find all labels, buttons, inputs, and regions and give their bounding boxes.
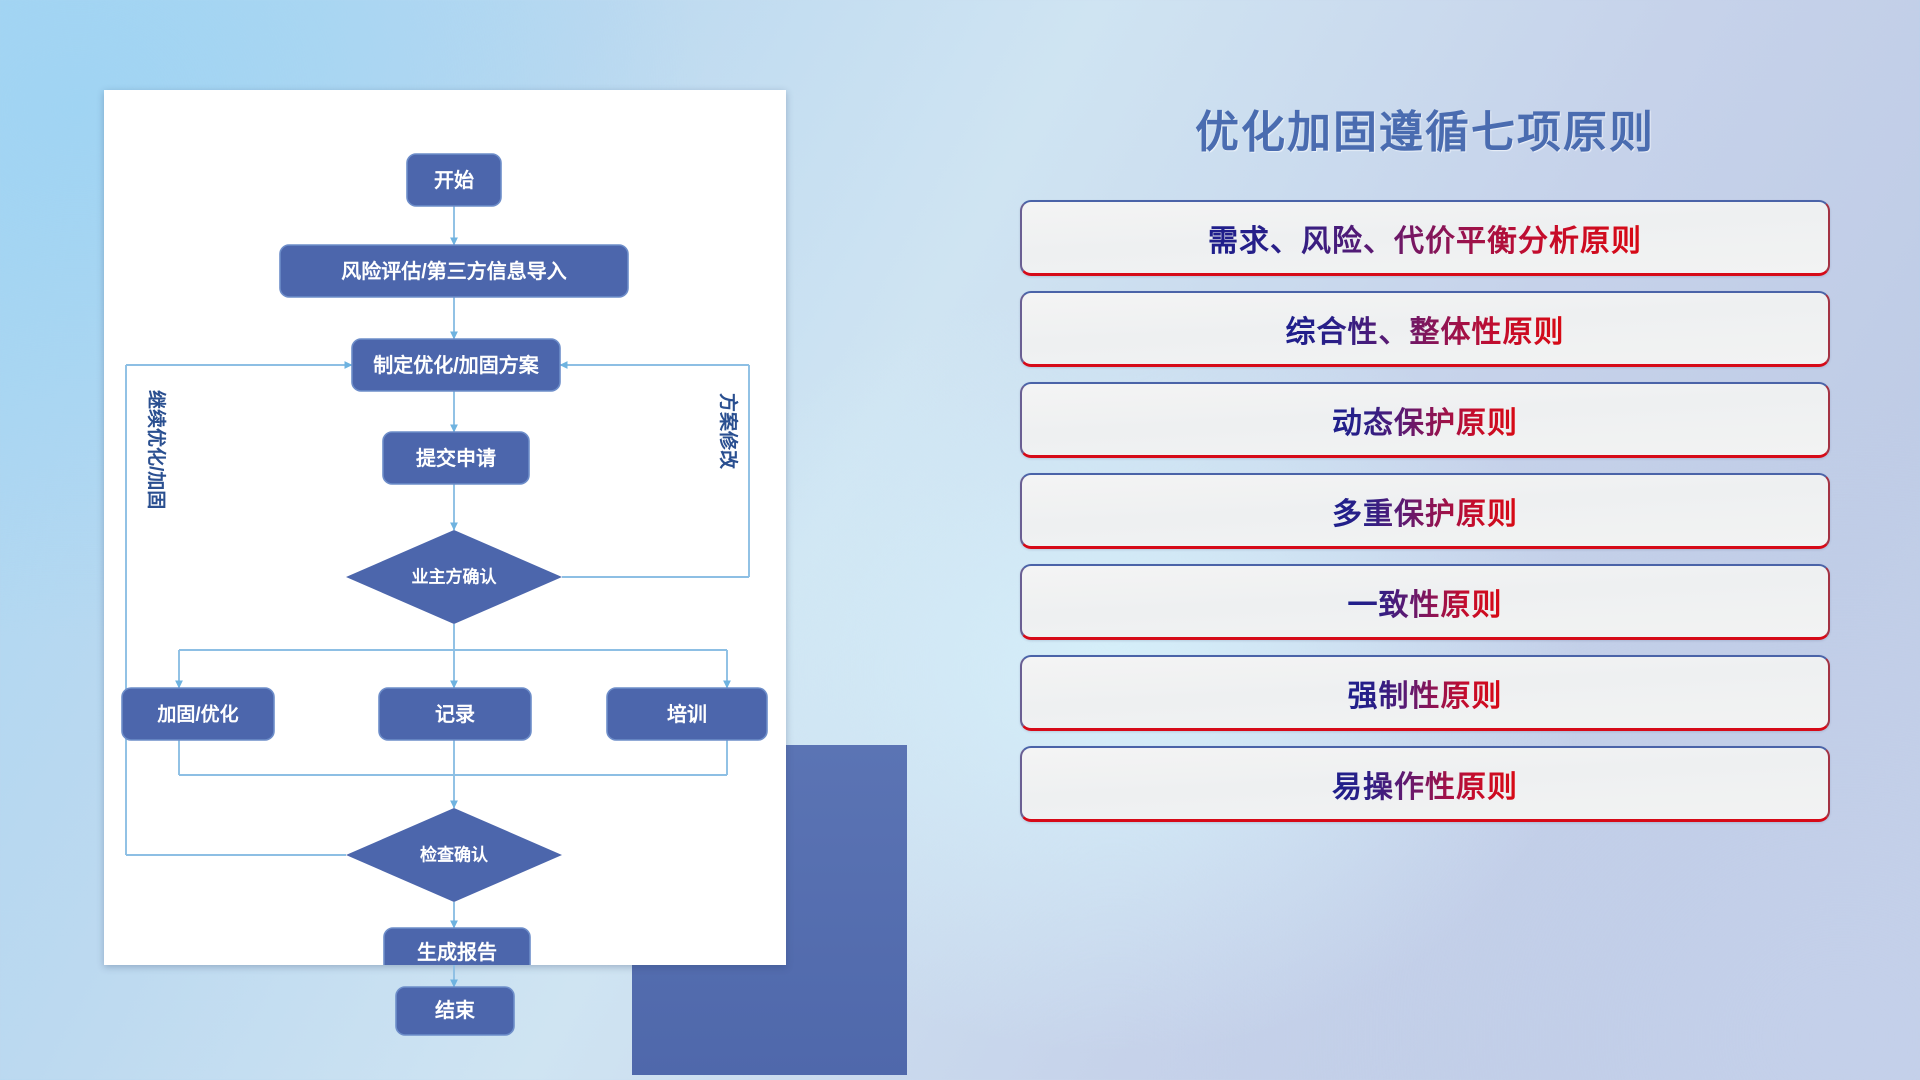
flow-node-plan[interactable]: 制定优化/加固方案: [352, 339, 560, 391]
principles-panel: 优化加固遵循七项原则 需求、风险、代价平衡分析原则 综合性、整体性原则 动态保护…: [1020, 96, 1830, 837]
flow-node-submit[interactable]: 提交申请: [383, 432, 529, 484]
flow-node-reinforce-label: 加固/优化: [156, 703, 238, 726]
principle-item-label: 综合性、整体性原则: [1286, 307, 1565, 351]
flow-node-reinforce[interactable]: 加固/优化: [122, 688, 274, 740]
flow-edge-label-left-loop: 继续优化/加固: [145, 390, 168, 509]
flow-node-owner-confirm[interactable]: 业主方确认: [346, 530, 562, 624]
principle-item[interactable]: 强制性原则: [1020, 655, 1830, 731]
principle-item-label: 动态保护原则: [1332, 398, 1518, 442]
flowchart-panel: 开始 风险评估/第三方信息导入 制定优化/加固方案 提交申请 业主方确认 加固/…: [104, 90, 794, 970]
flowchart-svg-overflow: 结束: [104, 965, 786, 1080]
principle-item[interactable]: 一致性原则: [1020, 564, 1830, 640]
flow-node-report[interactable]: 生成报告: [384, 928, 530, 965]
flow-node-start[interactable]: 开始: [407, 154, 501, 206]
flow-node-training-label: 培训: [667, 702, 707, 726]
principle-item[interactable]: 易操作性原则: [1020, 746, 1830, 822]
flow-node-risk-label: 风险评估/第三方信息导入: [341, 259, 567, 283]
flow-node-check[interactable]: 检查确认: [346, 808, 562, 902]
flow-node-end-label: 结束: [435, 998, 476, 1022]
principle-item-label: 需求、风险、代价平衡分析原则: [1208, 216, 1642, 260]
flow-node-plan-label: 制定优化/加固方案: [373, 353, 540, 377]
flow-node-end[interactable]: 结束: [396, 965, 514, 1035]
flow-node-submit-label: 提交申请: [416, 446, 496, 470]
flow-edge-label-right-loop: 方案修改: [717, 393, 740, 470]
principle-item-label: 易操作性原则: [1332, 762, 1518, 806]
flow-node-record-label: 记录: [435, 703, 475, 726]
flow-node-owner-confirm-label: 业主方确认: [412, 567, 498, 587]
principles-title: 优化加固遵循七项原则: [1020, 96, 1830, 160]
principle-item[interactable]: 多重保护原则: [1020, 473, 1830, 549]
principle-item-label: 多重保护原则: [1332, 489, 1518, 533]
flow-node-check-label: 检查确认: [420, 845, 489, 865]
principle-item-label: 强制性原则: [1348, 671, 1503, 715]
principle-list: 需求、风险、代价平衡分析原则 综合性、整体性原则 动态保护原则 多重保护原则 一…: [1020, 200, 1830, 822]
flow-node-risk[interactable]: 风险评估/第三方信息导入: [280, 245, 628, 297]
flow-node-training[interactable]: 培训: [607, 688, 767, 740]
principle-item-label: 一致性原则: [1348, 580, 1503, 624]
flowchart-svg: 开始 风险评估/第三方信息导入 制定优化/加固方案 提交申请 业主方确认 加固/…: [104, 90, 786, 965]
flow-node-record[interactable]: 记录: [379, 688, 531, 740]
principle-item[interactable]: 综合性、整体性原则: [1020, 291, 1830, 367]
flow-node-report-label: 生成报告: [417, 940, 497, 964]
principle-item[interactable]: 动态保护原则: [1020, 382, 1830, 458]
principle-item[interactable]: 需求、风险、代价平衡分析原则: [1020, 200, 1830, 276]
flow-node-start-label: 开始: [434, 168, 474, 192]
